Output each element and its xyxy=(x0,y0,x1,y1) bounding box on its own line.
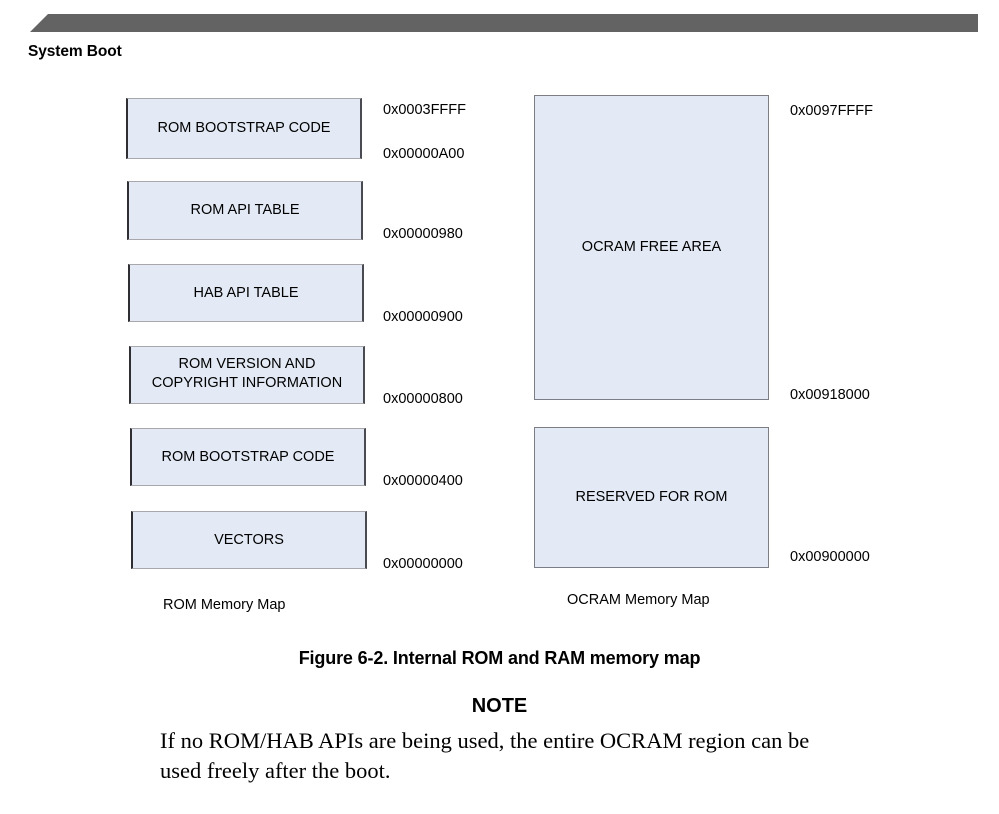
rom-address-00000980: 0x00000980 xyxy=(383,226,463,242)
rom-address-00000000: 0x00000000 xyxy=(383,556,463,572)
rom-address-0003FFFF: 0x0003FFFF xyxy=(383,102,466,118)
rom-block-vectors: VECTORS xyxy=(131,511,367,569)
note-body-text: If no ROM/HAB APIs are being used, the e… xyxy=(160,726,840,786)
rom-address-00000400: 0x00000400 xyxy=(383,473,463,489)
ocram-memory-map-caption: OCRAM Memory Map xyxy=(567,592,710,608)
page-header-bar xyxy=(30,14,978,32)
ocram-address-0097FFFF: 0x0097FFFF xyxy=(790,103,873,119)
rom-block-bootstrap-code-lower: ROM BOOTSTRAP CODE xyxy=(130,428,366,486)
rom-memory-map-caption: ROM Memory Map xyxy=(163,597,285,613)
note-title: NOTE xyxy=(0,695,999,718)
ocram-address-00900000: 0x00900000 xyxy=(790,549,870,565)
rom-block-bootstrap-code-upper: ROM BOOTSTRAP CODE xyxy=(126,98,362,159)
section-title: System Boot xyxy=(28,43,122,61)
ocram-block-reserved-for-rom: RESERVED FOR ROM xyxy=(534,427,769,568)
ocram-block-free-area: OCRAM FREE AREA xyxy=(534,95,769,400)
figure-caption: Figure 6-2. Internal ROM and RAM memory … xyxy=(0,648,999,669)
rom-address-00000800: 0x00000800 xyxy=(383,391,463,407)
rom-address-00000900: 0x00000900 xyxy=(383,309,463,325)
rom-block-hab-api-table: HAB API TABLE xyxy=(128,264,364,322)
rom-block-rom-version-copyright: ROM VERSION AND COPYRIGHT INFORMATION xyxy=(129,346,365,404)
ocram-address-00918000: 0x00918000 xyxy=(790,387,870,403)
rom-block-rom-api-table: ROM API TABLE xyxy=(127,181,363,240)
rom-address-00000A00: 0x00000A00 xyxy=(383,146,464,162)
